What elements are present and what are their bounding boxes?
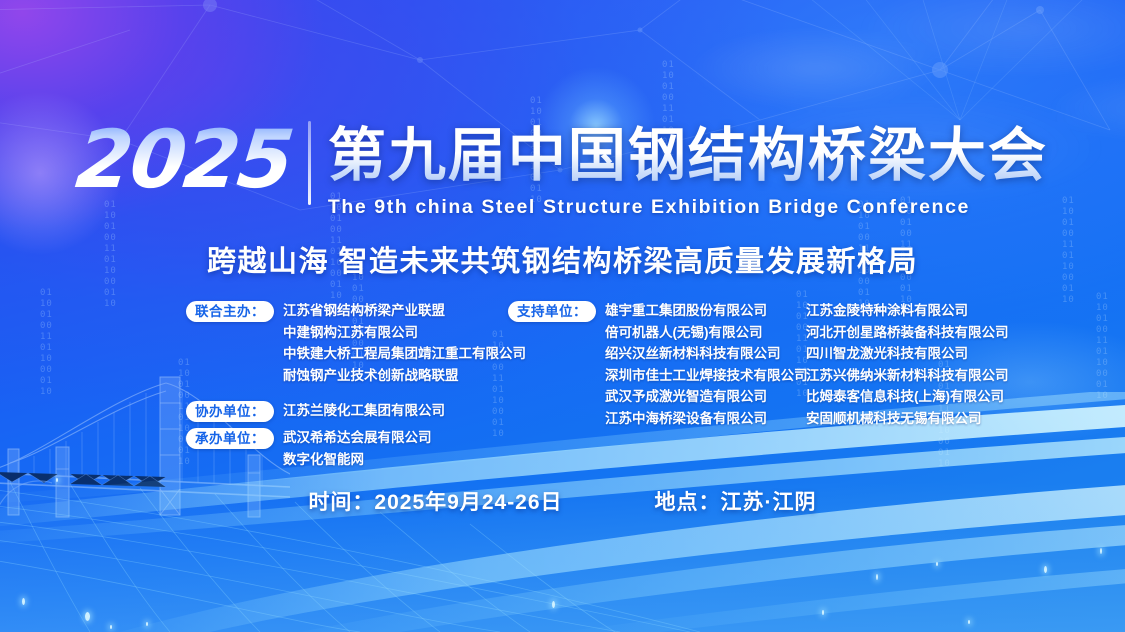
list-item: 江苏中海桥梁设备有限公司 xyxy=(605,408,808,430)
list-item: 中铁建大桥工程局集团靖江重工有限公司 xyxy=(283,343,526,365)
list-item: 中建钢构江苏有限公司 xyxy=(283,322,526,344)
list-item: 深圳市佳士工业焊接技术有限公司 xyxy=(605,365,808,387)
label-undertaker: 承办单位： xyxy=(186,428,274,449)
org-group-co-organizer: 协办单位： 江苏兰陵化工集团有限公司 xyxy=(186,400,445,422)
list-item: 绍兴汉丝新材料科技有限公司 xyxy=(605,343,808,365)
org-group-co-host: 联合主办： 江苏省钢结构桥梁产业联盟 中建钢构江苏有限公司 中铁建大桥工程局集团… xyxy=(186,300,526,386)
event-date: 时间：2025年9月24-26日 xyxy=(308,486,562,516)
undertaker-list: 武汉希希达会展有限公司 数字化智能网 xyxy=(283,427,432,470)
organizations-section: 联合主办： 江苏省钢结构桥梁产业联盟 中建钢构江苏有限公司 中铁建大桥工程局集团… xyxy=(0,296,1125,456)
supporters-list-column-2: 江苏金陵特种涂料有限公司 河北开创星路桥装备科技有限公司 四川智龙激光科技有限公… xyxy=(806,300,1009,429)
list-item: 耐蚀钢产业技术创新战略联盟 xyxy=(283,365,526,387)
list-item: 安固顺机械科技无锡有限公司 xyxy=(806,408,1009,430)
list-item: 江苏兴佛纳米新材料科技有限公司 xyxy=(806,365,1009,387)
label-co-host: 联合主办： xyxy=(186,301,274,322)
list-item: 倍可机器人(无锡)有限公司 xyxy=(605,322,808,344)
list-item: 江苏省钢结构桥梁产业联盟 xyxy=(283,300,526,322)
org-group-supporters: 支持单位： 雄宇重工集团股份有限公司 倍可机器人(无锡)有限公司 绍兴汉丝新材料… xyxy=(508,300,808,429)
list-item: 江苏金陵特种涂料有限公司 xyxy=(806,300,1009,322)
conference-banner: 01 10 01 00 11 01 10 00 01 10 01 10 01 0… xyxy=(0,0,1125,632)
event-info-footer: 时间：2025年9月24-26日 地点：江苏·江阴 xyxy=(0,486,1125,516)
event-location: 地点：江苏·江阴 xyxy=(655,486,817,516)
list-item: 数字化智能网 xyxy=(283,449,432,471)
list-item: 雄宇重工集团股份有限公司 xyxy=(605,300,808,322)
co-host-list: 江苏省钢结构桥梁产业联盟 中建钢构江苏有限公司 中铁建大桥工程局集团靖江重工有限… xyxy=(283,300,526,386)
year-2025: 2025 xyxy=(73,118,312,202)
supporters-list-column-1: 雄宇重工集团股份有限公司 倍可机器人(无锡)有限公司 绍兴汉丝新材料科技有限公司… xyxy=(605,300,808,429)
tagline: 跨越山海 智造未来共筑钢结构桥梁高质量发展新格局 xyxy=(0,238,1125,280)
list-item: 比姆泰客信息科技(上海)有限公司 xyxy=(806,386,1009,408)
list-item: 四川智龙激光科技有限公司 xyxy=(806,343,1009,365)
headline-block: 2025 第九届中国钢结构桥梁大会 The 9th china Steel St… xyxy=(0,118,1125,219)
page-subtitle-english: The 9th china Steel Structure Exhibition… xyxy=(328,195,1048,219)
list-item: 武汉予成激光智造有限公司 xyxy=(605,386,808,408)
page-title: 第九届中国钢结构桥梁大会 xyxy=(328,118,1048,194)
label-co-organizer: 协办单位： xyxy=(186,401,274,422)
list-item: 江苏兰陵化工集团有限公司 xyxy=(283,400,445,422)
label-supporters: 支持单位： xyxy=(508,301,596,322)
list-item: 河北开创星路桥装备科技有限公司 xyxy=(806,322,1009,344)
org-group-undertaker: 承办单位： 武汉希希达会展有限公司 数字化智能网 xyxy=(186,427,432,470)
list-item: 武汉希希达会展有限公司 xyxy=(283,427,432,449)
org-group-supporters-continued: 江苏金陵特种涂料有限公司 河北开创星路桥装备科技有限公司 四川智龙激光科技有限公… xyxy=(806,300,1009,429)
co-organizer-list: 江苏兰陵化工集团有限公司 xyxy=(283,400,445,422)
